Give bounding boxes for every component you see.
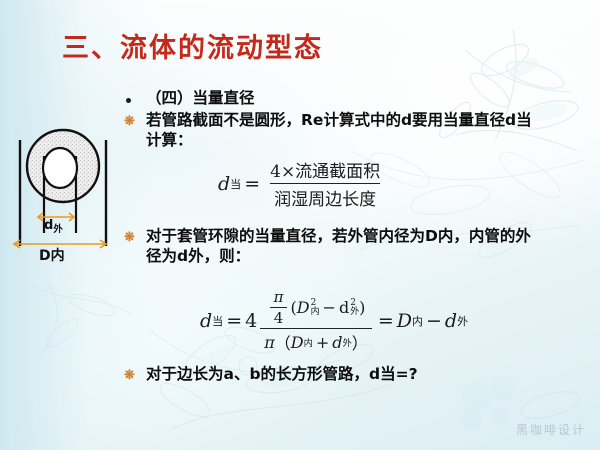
formula2-pi-over-four: π 4 (270, 288, 288, 327)
bullet-item-2: ❋ 若管路截面不是圆形，Re计算式中的d要用当量直径d当 计算： (124, 110, 594, 150)
formula2-main-fraction: π 4 ( D2内 − d2外 ) π （ D内 + d外 ） (260, 288, 372, 354)
designer-watermark: 黑咖啡设计 (516, 421, 586, 438)
formula2-den-term2-symbol: d (332, 333, 342, 352)
formula1-denominator: 润湿周边长度 (270, 183, 380, 210)
formula2-den-plus: + (316, 333, 329, 352)
formula1-numerator: 4×流通截面积 (266, 157, 384, 183)
bullet-3-line-1: 对于套管环隙的当量直径，若外管内径为D内，内管的外 (146, 227, 531, 245)
formula2-result2-symbol: d (445, 310, 457, 332)
formula2-den-pi: π (264, 333, 275, 352)
formula2-result2-sub: 外 (457, 313, 468, 329)
formula1-lhs-subscript: 当 (230, 176, 241, 192)
slide-canvas: 三、流体的流动型态 (0, 0, 600, 450)
formula2-den-term2-sub: 外 (343, 335, 352, 349)
formula2-num-close-paren: ) (359, 298, 365, 317)
formula1-lhs-symbol: d (218, 173, 230, 195)
formula1-fraction: 4×流通截面积 润湿周边长度 (266, 157, 384, 210)
flower-bullet-icon: ❋ (124, 226, 146, 246)
formula2-term2-subsup: 2外 (350, 299, 359, 317)
formula2-lhs-symbol: d (200, 310, 212, 332)
bullet-item-4: ❋ 对于边长为a、b的长方形管路，d当=? (124, 364, 594, 384)
flower-bullet-icon: ❋ (124, 364, 146, 384)
inner-diameter-subscript: 外 (53, 224, 63, 235)
formula2-lhs-subscript: 当 (212, 313, 223, 329)
formula2-term2-symbol: d (339, 298, 349, 317)
outer-diameter-label: D内 (39, 245, 65, 265)
formula2-term2-sub: 外 (350, 308, 359, 317)
dot-bullet-icon (124, 88, 146, 108)
equivalent-diameter-formula: d当 = 4×流通截面积 润湿周边长度 (218, 157, 387, 210)
bullet-3-line-2: 径为d外，则： (146, 247, 250, 265)
formula2-term1-sub: 内 (311, 308, 320, 317)
formula2-coefficient: 4 (245, 310, 257, 332)
flower-bullet-icon: ❋ (124, 110, 146, 130)
formula2-four: 4 (270, 307, 288, 327)
formula2-term1-symbol: D (297, 298, 310, 317)
formula2-equals: = (226, 310, 242, 332)
formula2-den-close-paren: ） (352, 330, 368, 354)
formula2-numerator: π 4 ( D2内 − d2外 ) (263, 288, 370, 328)
bullet-4-line-1: 对于边长为a、b的长方形管路，d当=? (146, 364, 418, 384)
annulus-pipe-diagram: d外 D内 (8, 128, 138, 278)
bullet-3-text: 对于套管环隙的当量直径，若外管内径为D内，内管的外 径为d外，则： (146, 226, 531, 266)
formula2-pi: π (270, 288, 288, 307)
formula1-equals: = (244, 173, 260, 195)
formula2-result1-sub: 内 (412, 313, 423, 329)
outer-diameter-subscript: 内 (51, 248, 65, 264)
bullet-item-1: （四）当量直径 (124, 88, 584, 108)
bullet-2-line-2: 计算： (146, 131, 193, 149)
formula2-result-minus: − (426, 310, 442, 332)
bullet-item-3: ❋ 对于套管环隙的当量直径，若外管内径为D内，内管的外 径为d外，则： (124, 226, 594, 266)
formula2-equals-2: = (378, 310, 394, 332)
formula2-denominator: π （ D内 + d外 ） (260, 328, 372, 354)
annulus-equivalent-diameter-formula: d当 = 4 π 4 ( D2内 − d2外 ) π （ D内 + (200, 288, 468, 354)
formula2-term1-subsup: 2内 (311, 299, 320, 317)
slide-title: 三、流体的流动型态 (62, 26, 323, 65)
formula2-den-term1-symbol: D (291, 333, 304, 352)
bullet-2-text: 若管路截面不是圆形，Re计算式中的d要用当量直径d当 计算： (146, 110, 532, 150)
formula2-result1-symbol: D (397, 310, 412, 332)
outer-diameter-symbol: D (39, 248, 51, 264)
formula2-den-term1-sub: 内 (304, 335, 313, 349)
formula2-minus: − (323, 298, 336, 317)
bullet-1-line-1: （四）当量直径 (146, 88, 255, 108)
inner-diameter-label: d外 (44, 218, 63, 235)
inner-diameter-symbol: d (44, 218, 53, 233)
annulus-pipe-svg (8, 128, 138, 278)
formula2-den-open-paren: （ (275, 330, 291, 354)
bullet-2-line-1: 若管路截面不是圆形，Re计算式中的d要用当量直径d当 (146, 111, 532, 129)
